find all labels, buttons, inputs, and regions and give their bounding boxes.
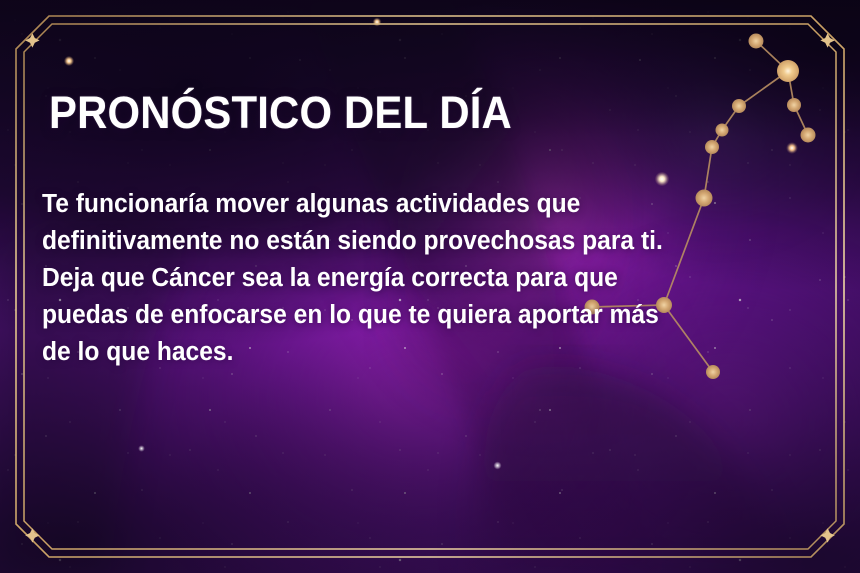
forecast-line: puedas de enfocarse en lo que te quiera … <box>42 297 795 334</box>
horoscope-forecast-card: PRONÓSTICO DEL DÍA Te funcionaría mover … <box>0 0 860 573</box>
page-title: PRONÓSTICO DEL DÍA <box>49 90 512 135</box>
forecast-body: Te funcionaría mover algunas actividades… <box>42 186 795 371</box>
forecast-line: Te funcionaría mover algunas actividades… <box>42 186 795 223</box>
forecast-line: de lo que haces. <box>42 334 795 371</box>
forecast-line: Deja que Cáncer sea la energía correcta … <box>42 260 795 297</box>
forecast-line: definitivamente no están siendo provecho… <box>42 223 795 260</box>
text-content: PRONÓSTICO DEL DÍA Te funcionaría mover … <box>0 0 860 573</box>
